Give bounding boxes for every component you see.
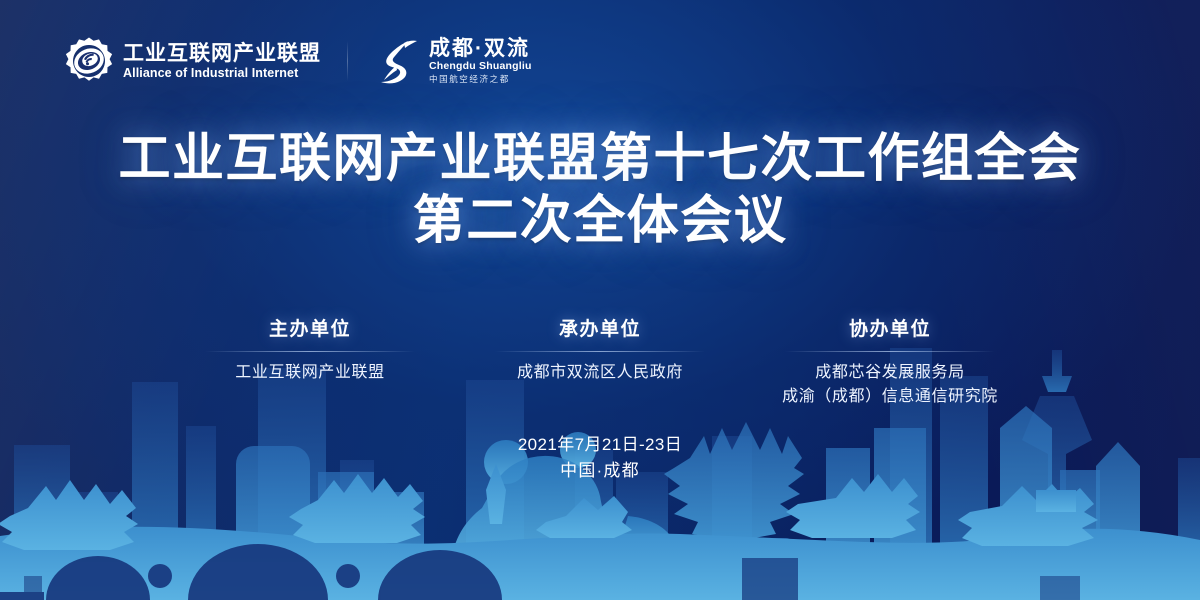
organizer-name: 工业互联网产业联盟 xyxy=(165,361,455,385)
organizer-role-label: 承办单位 xyxy=(455,318,745,342)
event-title-line-1: 工业互联网产业联盟第十七次工作组全会 xyxy=(0,128,1200,190)
logo-bar: 工业互联网产业联盟 Alliance of Industrial Interne… xyxy=(64,36,532,86)
chengdu-shuangliu-logo: 成都·双流 Chengdu Shuangliu 中国航空经济之都 xyxy=(374,36,532,86)
chengdu-logo-tagline: 中国航空经济之都 xyxy=(429,73,532,85)
event-title: 工业互联网产业联盟第十七次工作组全会 第二次全体会议 xyxy=(0,128,1200,252)
organizer-divider xyxy=(205,351,415,352)
organizer-role-label: 主办单位 xyxy=(165,318,455,342)
chengdu-shuangliu-swoosh-icon xyxy=(374,36,420,86)
event-date: 2021年7月21日-23日 xyxy=(0,432,1200,458)
organizers-row: 主办单位 工业互联网产业联盟 承办单位 成都市双流区人民政府 协办单位 成都芯谷… xyxy=(0,318,1200,409)
event-title-line-2: 第二次全体会议 xyxy=(0,190,1200,252)
chengdu-logo-cn-name: 成都·双流 xyxy=(429,37,532,60)
organizer-name: 成都芯谷发展服务局 xyxy=(745,361,1035,385)
organizer-undertaker: 承办单位 成都市双流区人民政府 xyxy=(455,318,745,385)
organizer-host: 主办单位 工业互联网产业联盟 xyxy=(165,318,455,385)
logo-divider xyxy=(347,41,348,81)
event-place: 中国·成都 xyxy=(0,458,1200,484)
event-meta: 2021年7月21日-23日 中国·成都 xyxy=(0,432,1200,484)
conference-banner: 工业互联网产业联盟 Alliance of Industrial Interne… xyxy=(0,0,1200,600)
aii-logo-cn-name: 工业互联网产业联盟 xyxy=(123,42,321,65)
chengdu-logo-en-name: Chengdu Shuangliu xyxy=(429,60,532,73)
organizer-coorganizer: 协办单位 成都芯谷发展服务局 成渝（成都）信息通信研究院 xyxy=(745,318,1035,409)
organizer-divider xyxy=(495,351,705,352)
organizer-name: 成都市双流区人民政府 xyxy=(455,361,745,385)
aii-logo: 工业互联网产业联盟 Alliance of Industrial Interne… xyxy=(64,36,321,86)
organizer-name: 成渝（成都）信息通信研究院 xyxy=(745,385,1035,409)
organizer-role-label: 协办单位 xyxy=(745,318,1035,342)
aii-logo-en-name: Alliance of Industrial Internet xyxy=(123,65,321,81)
gear-wifi-logo-icon xyxy=(64,36,114,86)
organizer-divider xyxy=(785,351,995,352)
